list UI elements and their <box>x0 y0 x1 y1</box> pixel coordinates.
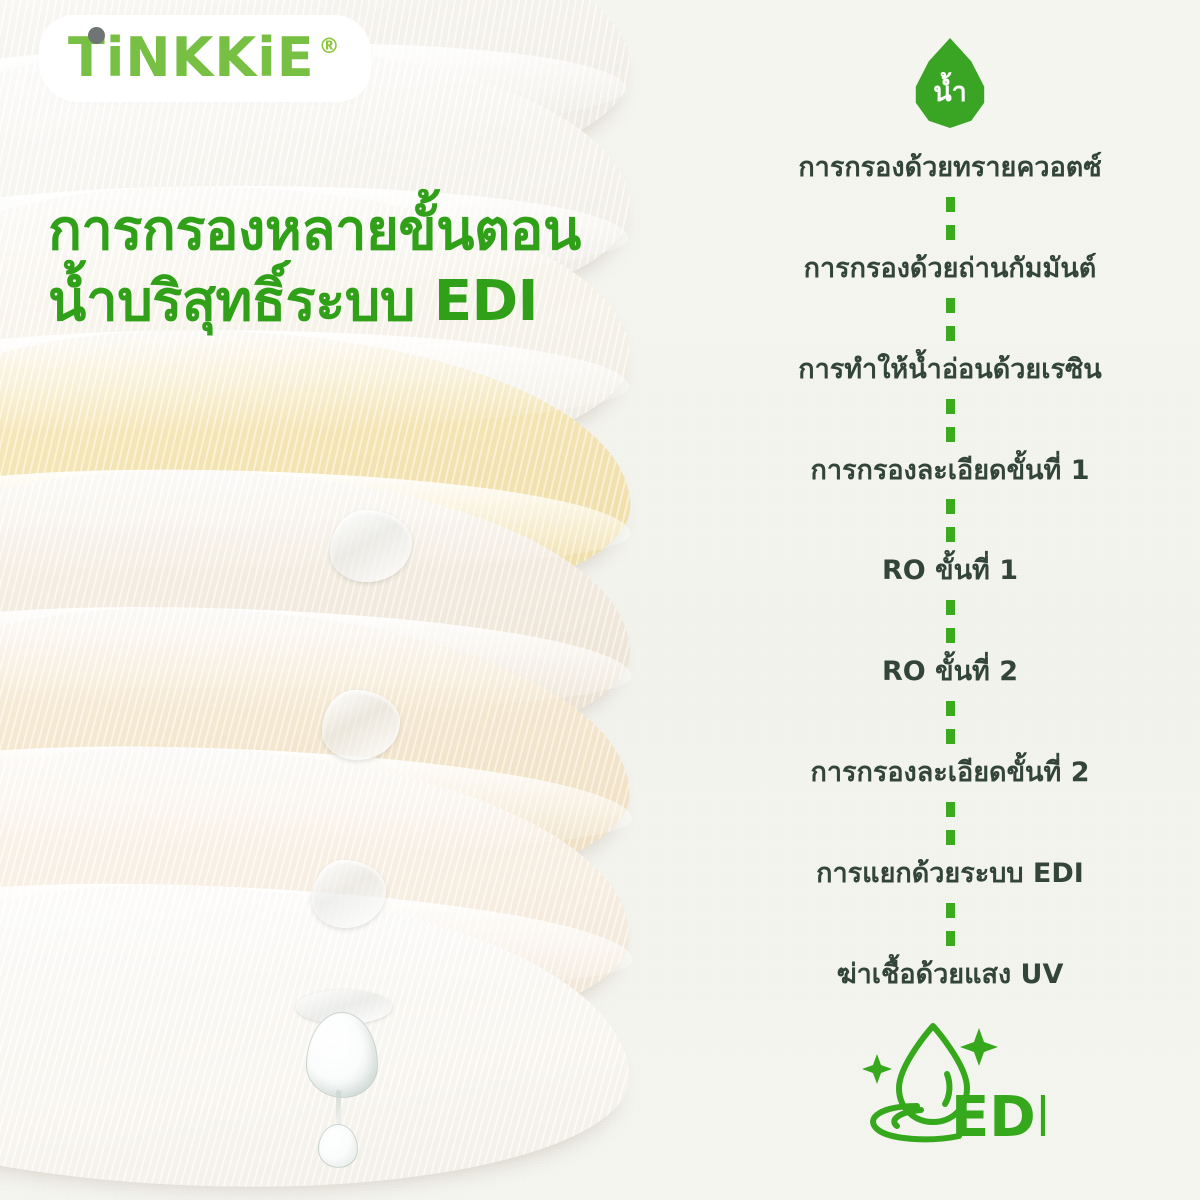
connector-dash-icon <box>946 903 955 918</box>
connector-dash-icon <box>946 802 955 817</box>
water-drop-icon: น้ำ <box>912 38 988 128</box>
flow-step-1: การกรองด้วยทรายควอตซ์ <box>798 152 1101 184</box>
flow-step-9: ฆ่าเชื้อด้วยแสง UV <box>837 959 1064 991</box>
connector-dash-icon <box>946 298 955 313</box>
connector-dash-icon <box>946 527 955 542</box>
flow-connector-dashes <box>946 386 955 455</box>
poster-root: TiNKKiE ® การกรองหลายขั้นตอน น้ำบริสุทธิ… <box>0 0 1200 1200</box>
flow-step-5: RO ขั้นที่ 1 <box>882 555 1018 587</box>
flow-step-6: RO ขั้นที่ 2 <box>882 656 1018 688</box>
flow-connector-dashes <box>946 587 955 656</box>
connector-dash-icon <box>946 399 955 414</box>
flow-connector-dashes <box>946 285 955 354</box>
flow-connector-dashes <box>946 890 955 959</box>
connector-dash-icon <box>946 729 955 744</box>
connector-dash-icon <box>946 197 955 212</box>
connector-dash-icon <box>946 701 955 716</box>
connector-dash-icon <box>946 225 955 240</box>
logo-dot-icon <box>88 27 105 44</box>
flow-connector-dashes <box>946 486 955 555</box>
droplet-trail-icon <box>336 1090 341 1126</box>
headline-line-2: น้ำบริสุทธิ์ระบบ EDI <box>48 267 748 338</box>
flow-step-8: การแยกด้วยระบบ EDI <box>816 858 1084 890</box>
flow-step-7: การกรองละเอียดขั้นที่ 2 <box>810 757 1089 789</box>
flow-connector-dashes <box>946 789 955 858</box>
flow-step-2: การกรองด้วยถ่านกัมมันต์ <box>804 253 1097 285</box>
headline-line-1: การกรองหลายขั้นตอน <box>48 196 748 267</box>
sparkle-icon <box>960 1028 998 1066</box>
flow-step-4: การกรองละเอียดขั้นที่ 1 <box>810 455 1089 487</box>
connector-dash-icon <box>946 600 955 615</box>
edi-badge-text: EDI <box>951 1085 1045 1148</box>
product-photo <box>0 0 660 1200</box>
drop-highlight-icon <box>945 1074 949 1104</box>
registered-mark-icon: ® <box>319 34 340 58</box>
water-drop-label: น้ำ <box>912 38 988 128</box>
connector-dash-icon <box>946 499 955 514</box>
sparkle-icon <box>862 1054 892 1084</box>
brand-logo-text: TiNKKiE <box>68 30 315 85</box>
connector-dash-icon <box>946 830 955 845</box>
connector-dash-icon <box>946 931 955 946</box>
brand-logo[interactable]: TiNKKiE ® <box>46 22 364 95</box>
edi-badge: EDI <box>855 1018 1045 1148</box>
flow-connector-dashes <box>946 184 955 253</box>
flow-step-list: การกรองด้วยทรายควอตซ์การกรองด้วยถ่านกัมม… <box>700 152 1200 991</box>
filtration-flow: น้ำ การกรองด้วยทรายควอตซ์การกรองด้วยถ่าน… <box>700 0 1200 1200</box>
connector-dash-icon <box>946 628 955 643</box>
flow-connector-dashes <box>946 688 955 757</box>
connector-dash-icon <box>946 326 955 341</box>
flow-step-3: การทำให้น้ำอ่อนด้วยเรซิน <box>798 354 1102 386</box>
page-title: การกรองหลายขั้นตอน น้ำบริสุทธิ์ระบบ EDI <box>48 196 748 337</box>
water-droplet-small-icon <box>318 1124 358 1168</box>
connector-dash-icon <box>946 427 955 442</box>
